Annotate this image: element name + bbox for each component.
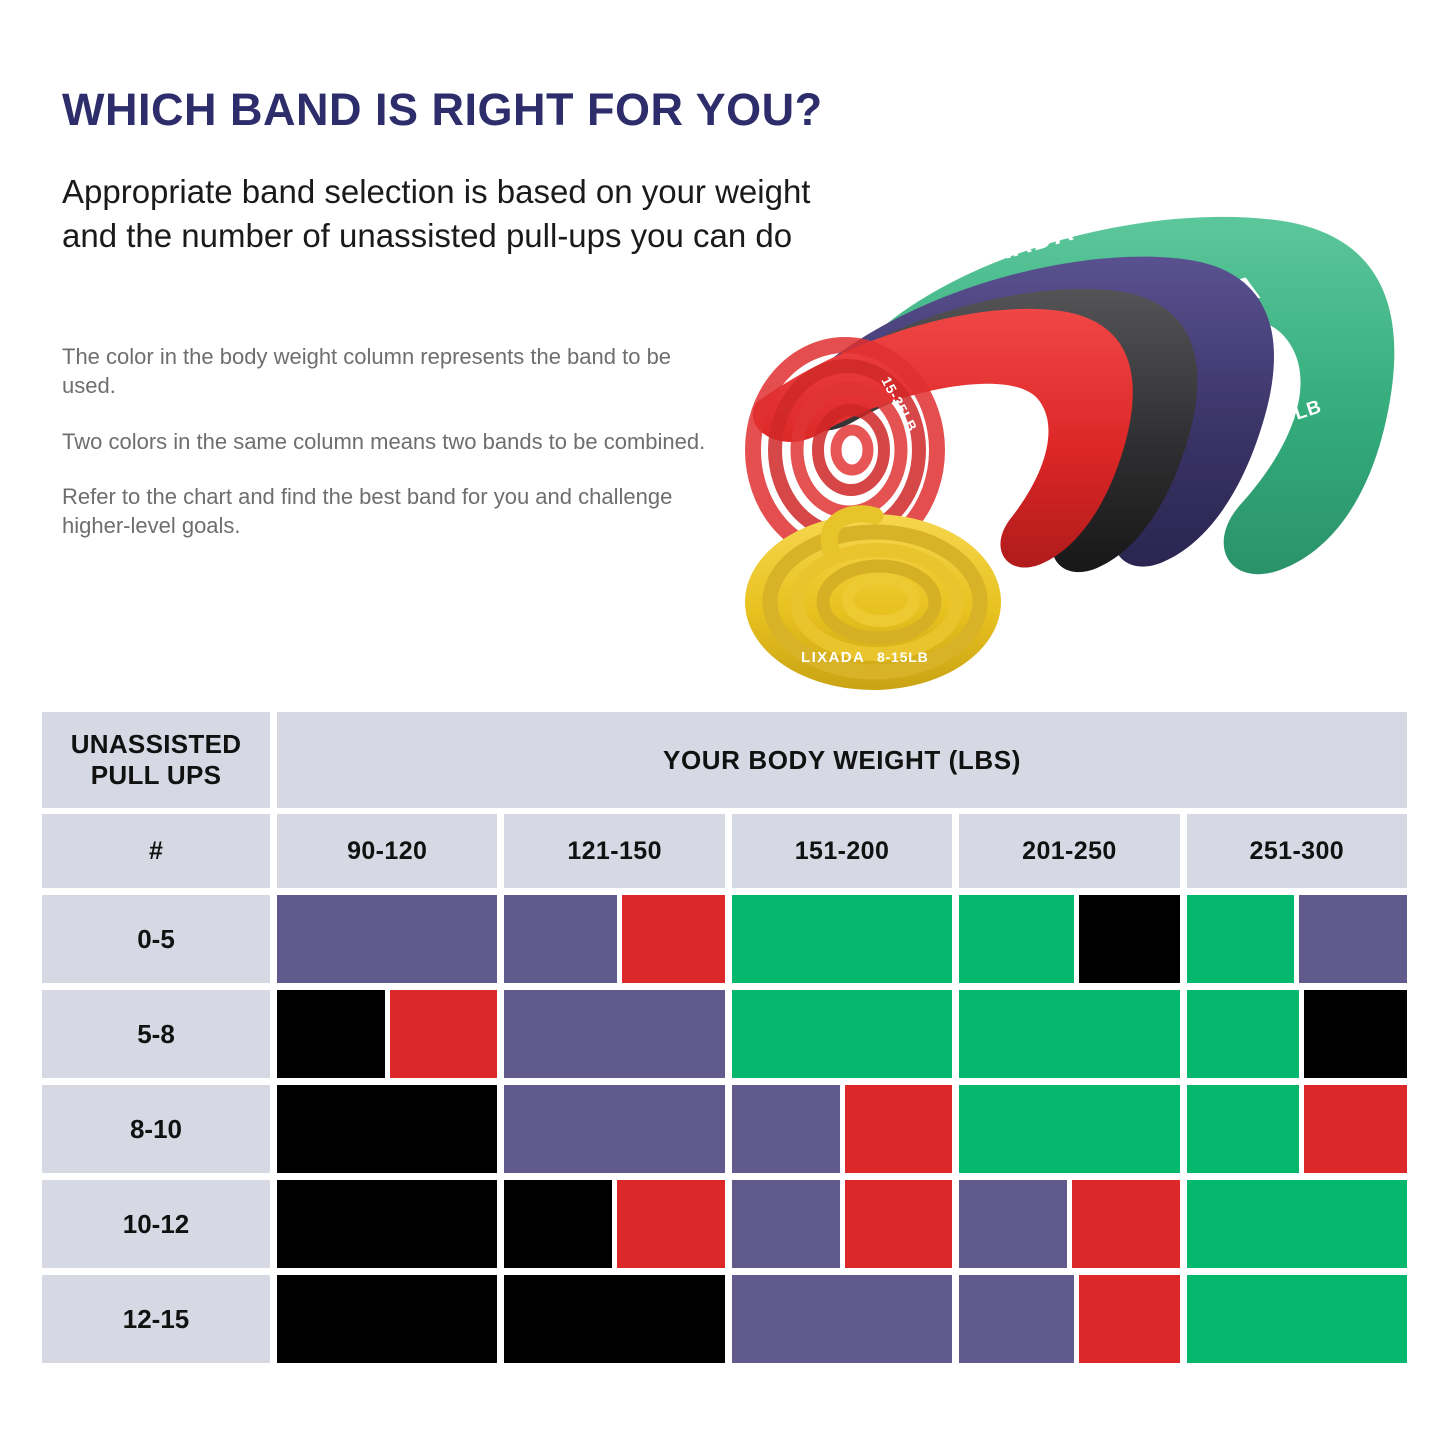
- band-swatch-red: [845, 1085, 953, 1173]
- band-cell-121-150: [504, 990, 724, 1078]
- band-swatch-green: [1187, 990, 1299, 1078]
- band-cell-151-200: [732, 1180, 952, 1268]
- band-cell-151-200: [732, 895, 952, 983]
- band-cell-90-120: [277, 1275, 497, 1363]
- column-group-title: YOUR BODY WEIGHT (LBS): [277, 712, 1407, 808]
- band-cell-121-150: [504, 895, 724, 983]
- band-cell-90-120: [277, 1180, 497, 1268]
- band-swatch-purple: [504, 895, 616, 983]
- row-label: 10-12: [42, 1180, 270, 1268]
- band-brand-yellow: LIXADA: [801, 649, 865, 666]
- table-row: 0-5: [42, 895, 1407, 983]
- row-label: 0-5: [42, 895, 270, 983]
- band-swatch-red: [617, 1180, 725, 1268]
- table-row: 5-8: [42, 990, 1407, 1078]
- band-swatch-green: [959, 1085, 1179, 1173]
- band-swatch-purple: [504, 1085, 724, 1173]
- row-header-symbol: #: [42, 814, 270, 888]
- band-swatch-red: [1072, 1180, 1180, 1268]
- column-headers: 90-120 121-150 151-200 201-250 251-300: [277, 814, 1407, 888]
- row-cells: [277, 990, 1407, 1078]
- intro-paragraph: Appropriate band selection is based on y…: [62, 170, 822, 257]
- note-item: The color in the body weight column repr…: [62, 342, 722, 401]
- band-swatch-purple: [959, 1275, 1073, 1363]
- band-swatch-green: [1187, 1180, 1407, 1268]
- chart-subheader-row: # 90-120 121-150 151-200 201-250 251-300: [42, 814, 1407, 888]
- band-cell-90-120: [277, 1085, 497, 1173]
- band-swatch-black: [277, 1085, 497, 1173]
- band-swatch-purple: [959, 1180, 1067, 1268]
- band-swatch-red: [622, 895, 725, 983]
- band-cell-251-300: [1187, 1085, 1407, 1173]
- table-row: 8-10: [42, 1085, 1407, 1173]
- band-swatch-purple: [732, 1085, 840, 1173]
- band-weight-yellow: 8-15LB: [877, 649, 928, 665]
- column-header-1: 90-120: [277, 814, 497, 888]
- band-cell-201-250: [959, 895, 1179, 983]
- notes-list: The color in the body weight column repr…: [62, 342, 722, 566]
- band-cell-201-250: [959, 1180, 1179, 1268]
- band-swatch-green: [1187, 895, 1295, 983]
- column-header-5: 251-300: [1187, 814, 1407, 888]
- band-swatch-green: [732, 990, 952, 1078]
- resistance-bands-illustration: LIXADA 50-125LB LIXADA 35-85LB LIXADA 25…: [735, 150, 1425, 690]
- band-swatch-purple: [277, 895, 497, 983]
- row-cells: [277, 895, 1407, 983]
- band-swatch-purple: [732, 1180, 840, 1268]
- band-cell-90-120: [277, 990, 497, 1078]
- band-cell-251-300: [1187, 1275, 1407, 1363]
- band-cell-90-120: [277, 895, 497, 983]
- row-header-title: UNASSISTED PULL UPS: [42, 712, 270, 808]
- band-swatch-black: [504, 1275, 724, 1363]
- band-swatch-green: [1187, 1085, 1299, 1173]
- column-header-2: 121-150: [504, 814, 724, 888]
- band-cell-201-250: [959, 1085, 1179, 1173]
- band-cell-121-150: [504, 1275, 724, 1363]
- band-swatch-black: [277, 1275, 497, 1363]
- band-swatch-red: [1304, 1085, 1407, 1173]
- note-item: Two colors in the same column means two …: [62, 427, 722, 456]
- band-swatch-purple: [1299, 895, 1407, 983]
- band-brand-red: LIXADA: [774, 265, 864, 341]
- intro-section: WHICH BAND IS RIGHT FOR YOU? Appropriate…: [0, 0, 1445, 700]
- column-header-3: 151-200: [732, 814, 952, 888]
- band-swatch-green: [959, 990, 1179, 1078]
- band-swatch-red: [390, 990, 498, 1078]
- band-swatch-black: [277, 990, 385, 1078]
- band-cell-121-150: [504, 1085, 724, 1173]
- row-label: 8-10: [42, 1085, 270, 1173]
- page-title: WHICH BAND IS RIGHT FOR YOU?: [62, 84, 823, 136]
- table-row: 12-15: [42, 1275, 1407, 1363]
- band-swatch-purple: [504, 990, 724, 1078]
- band-yellow: LIXADA 8-15LB: [745, 514, 1001, 690]
- band-swatch-red: [845, 1180, 953, 1268]
- band-swatch-black: [277, 1180, 497, 1268]
- chart-header-row: UNASSISTED PULL UPS YOUR BODY WEIGHT (LB…: [42, 712, 1407, 808]
- row-cells: [277, 1180, 1407, 1268]
- band-cell-251-300: [1187, 895, 1407, 983]
- note-item: Refer to the chart and find the best ban…: [62, 482, 722, 541]
- band-swatch-green: [959, 895, 1073, 983]
- column-header-4: 201-250: [959, 814, 1179, 888]
- band-cell-201-250: [959, 1275, 1179, 1363]
- band-cell-151-200: [732, 990, 952, 1078]
- row-cells: [277, 1275, 1407, 1363]
- band-cell-201-250: [959, 990, 1179, 1078]
- product-photo: LIXADA 50-125LB LIXADA 35-85LB LIXADA 25…: [735, 150, 1425, 690]
- band-cell-251-300: [1187, 1180, 1407, 1268]
- row-label: 5-8: [42, 990, 270, 1078]
- band-swatch-black: [1304, 990, 1407, 1078]
- table-row: 10-12: [42, 1180, 1407, 1268]
- chart-body: 0-55-88-1010-1212-15: [42, 895, 1407, 1363]
- band-cell-121-150: [504, 1180, 724, 1268]
- band-swatch-red: [1079, 1275, 1180, 1363]
- band-cell-151-200: [732, 1085, 952, 1173]
- band-swatch-purple: [732, 1275, 952, 1363]
- band-swatch-green: [1187, 1275, 1407, 1363]
- band-cell-151-200: [732, 1275, 952, 1363]
- band-swatch-green: [732, 895, 952, 983]
- band-swatch-black: [504, 1180, 612, 1268]
- row-cells: [277, 1085, 1407, 1173]
- band-selection-chart: UNASSISTED PULL UPS YOUR BODY WEIGHT (LB…: [42, 712, 1407, 1363]
- band-swatch-black: [1079, 895, 1180, 983]
- band-cell-251-300: [1187, 990, 1407, 1078]
- row-label: 12-15: [42, 1275, 270, 1363]
